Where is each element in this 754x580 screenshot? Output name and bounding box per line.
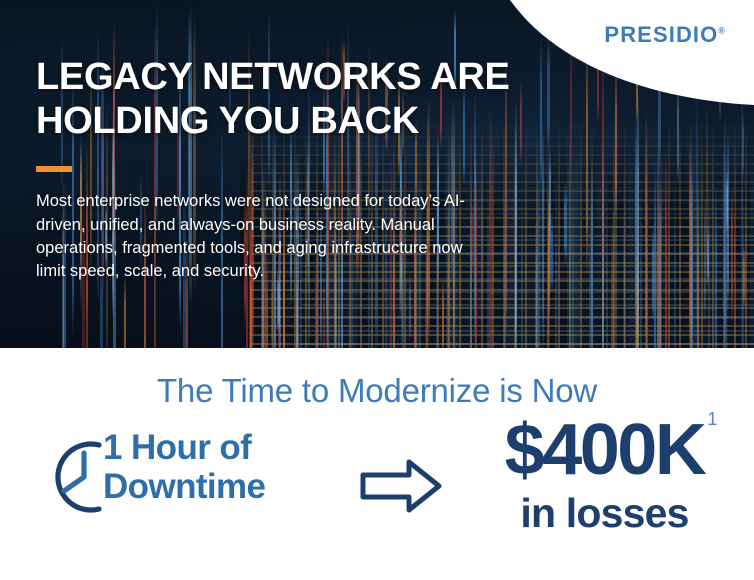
loss-stat: $400K1 in losses	[455, 414, 754, 535]
clock-icon	[47, 431, 109, 523]
arrow-right-icon	[360, 458, 442, 514]
brand-name: PRESIDIO	[604, 22, 718, 47]
footnote-marker: 1	[707, 410, 717, 428]
headline-line-1: LEGACY NETWORKS ARE	[36, 56, 510, 98]
infographic-page: LEGACY NETWORKS ARE HOLDING YOU BACK Mos…	[0, 0, 754, 580]
downtime-label-line-2: Downtime	[103, 467, 265, 506]
loss-label: in losses	[455, 492, 754, 535]
presidio-logo: PRESIDIO®	[604, 22, 725, 48]
downtime-label: 1 Hour of Downtime	[103, 428, 353, 506]
lower-panel: The Time to Modernize is Now 1 Hour of D…	[0, 348, 754, 580]
registered-trademark-icon: ®	[718, 26, 725, 36]
downtime-label-line-1: 1 Hour of	[103, 428, 251, 467]
section-subtitle: The Time to Modernize is Now	[0, 372, 754, 410]
loss-amount: $400K	[505, 410, 705, 490]
hero-content: LEGACY NETWORKS ARE HOLDING YOU BACK Mos…	[36, 55, 536, 284]
hero-body-text: Most enterprise networks were not design…	[36, 190, 496, 284]
accent-bar	[36, 166, 72, 172]
headline-line-2: HOLDING YOU BACK	[36, 100, 419, 142]
loss-amount-wrapper: $400K1	[505, 414, 705, 486]
hero-section: LEGACY NETWORKS ARE HOLDING YOU BACK Mos…	[0, 0, 754, 348]
stat-comparison-row: 1 Hour of Downtime $400K1 in losses	[0, 426, 754, 576]
page-title: LEGACY NETWORKS ARE HOLDING YOU BACK	[36, 55, 536, 143]
